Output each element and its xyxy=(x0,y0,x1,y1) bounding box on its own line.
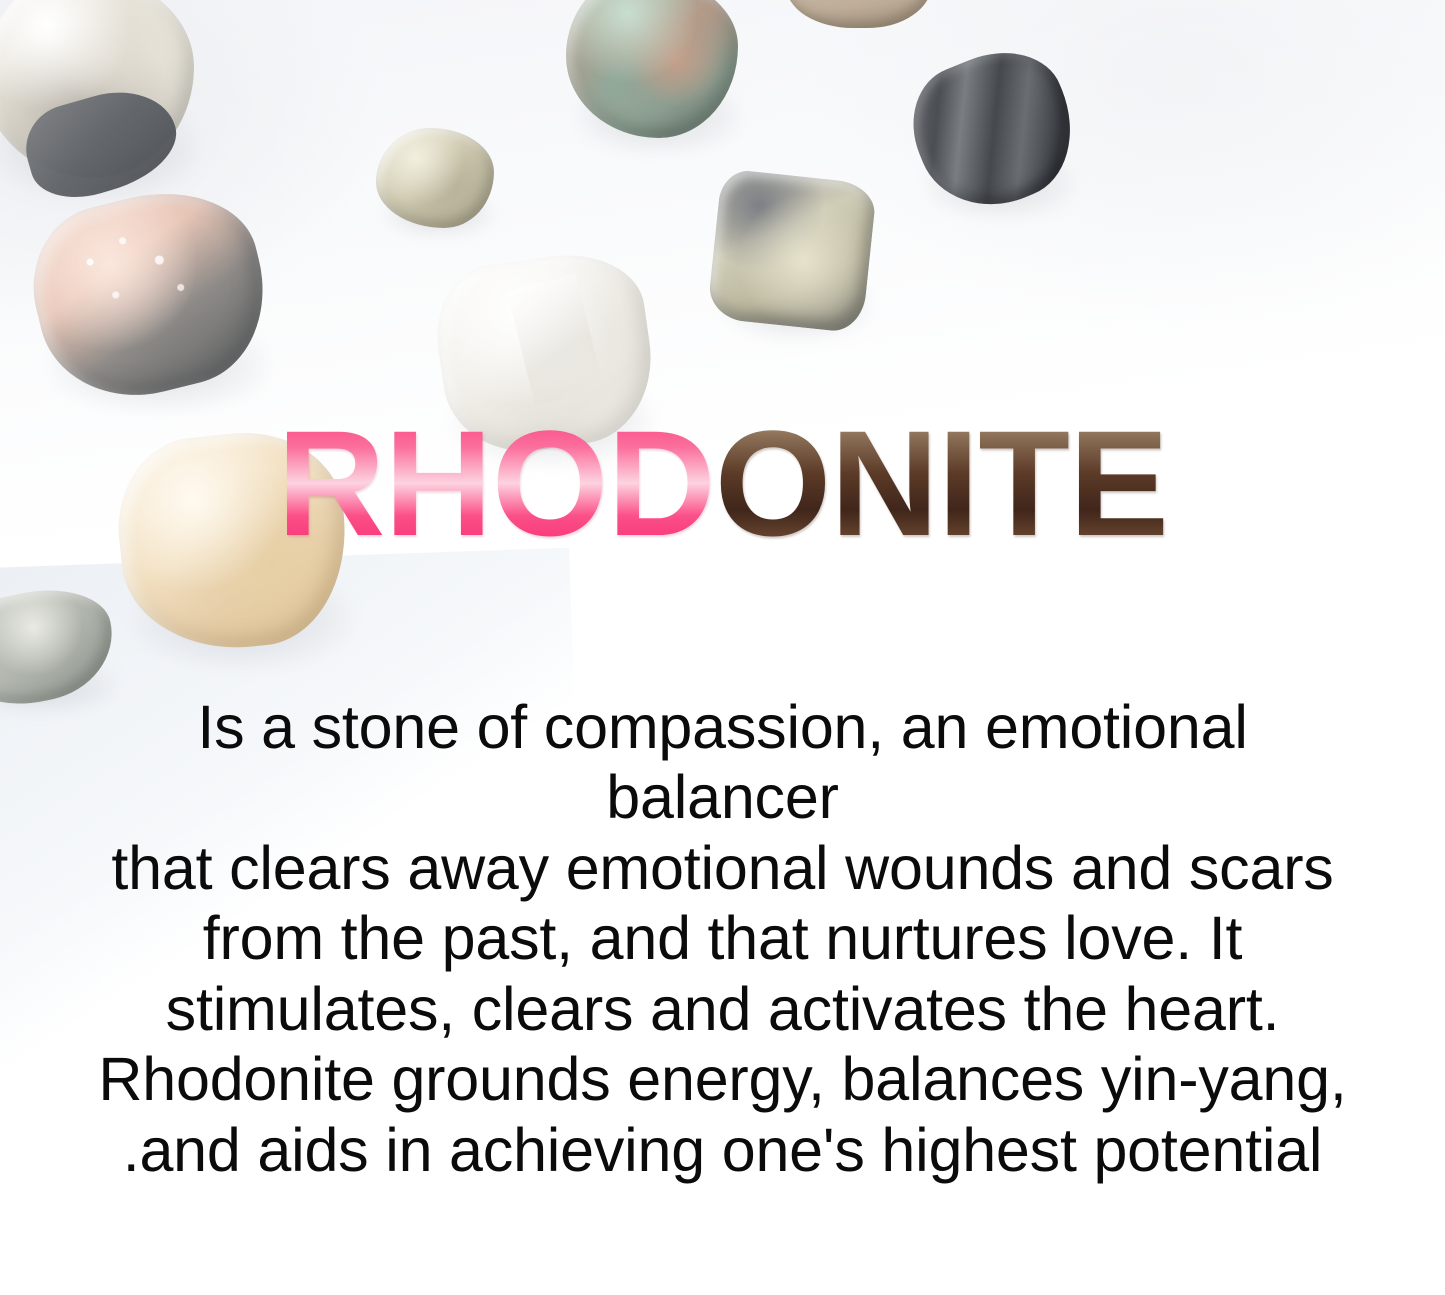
description-line: from the past, and that nurtures love. I… xyxy=(78,903,1368,973)
grey-green-edge-specimen xyxy=(0,592,114,702)
description-line: Is a stone of compassion, an emotional b… xyxy=(78,692,1368,833)
cropped-tan-stone-specimen xyxy=(786,0,932,28)
description-block: Is a stone of compassion, an emotional b… xyxy=(78,692,1368,1185)
pink-rhodonite-slab-specimen xyxy=(36,196,264,392)
description-line: that clears away emotional wounds and sc… xyxy=(78,833,1368,903)
title-segment-pink: RHOD xyxy=(277,408,715,558)
description-line: Rhodonite grounds energy, balances yin-y… xyxy=(78,1044,1368,1114)
specimen-body xyxy=(786,0,932,28)
description-line: stimulates, clears and activates the hea… xyxy=(78,974,1368,1044)
title-text: RHODONITE xyxy=(277,408,1168,558)
description-line: .and aids in achieving one's highest pot… xyxy=(78,1115,1368,1185)
specimen-body xyxy=(707,168,878,333)
large-pyrite-block-specimen xyxy=(714,176,870,326)
rhodonite-crystal-info-poster: RHODONITE Is a stone of compassion, an e… xyxy=(0,0,1445,1295)
specimen-body xyxy=(376,128,494,228)
small-pyrite-nugget-specimen xyxy=(376,128,494,228)
green-chrysocolla-specimen xyxy=(566,0,738,138)
page-title: RHODONITE xyxy=(0,408,1445,558)
dark-tourmaline-blade-specimen xyxy=(916,56,1072,204)
pale-limestone-specimen xyxy=(0,0,194,178)
title-segment-brown: ONITE xyxy=(715,408,1168,558)
